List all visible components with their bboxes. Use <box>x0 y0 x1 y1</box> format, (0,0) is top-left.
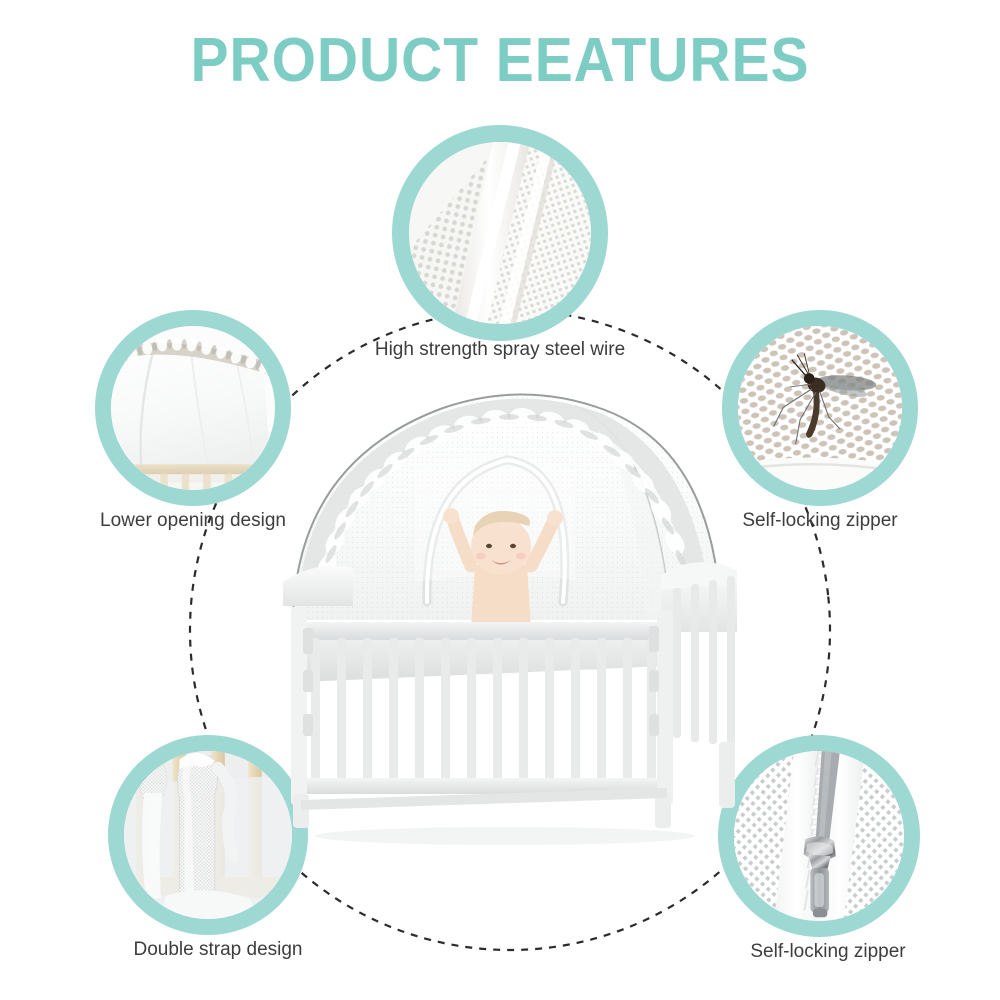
callout-image-zipper <box>734 751 904 921</box>
callout-label: Double strap design <box>58 939 378 961</box>
zipper-slider-illustration <box>734 751 904 921</box>
mesh-over-steel-wire-illustration <box>409 142 590 323</box>
callout-high-strength-spray-steel-wire[interactable]: High strength spray steel wire <box>392 125 608 341</box>
callout-image-mosquito-mesh <box>738 326 903 491</box>
callout-image-lower-opening <box>111 326 276 491</box>
callout-bubble <box>718 735 920 937</box>
callout-self-locking-zipper-top[interactable]: Self-locking zipper <box>722 310 918 506</box>
callout-bubble <box>722 310 918 506</box>
callout-bubble <box>95 310 291 506</box>
callout-self-locking-zipper-bottom[interactable]: Self-locking zipper <box>718 735 920 937</box>
callout-bubble <box>392 125 608 341</box>
callout-label: Self-locking zipper <box>668 941 988 963</box>
straps-on-crib-slats-illustration <box>124 751 292 919</box>
canopy-net-over-crib-rail-illustration <box>111 326 276 491</box>
callout-image-steel-wire <box>409 142 590 323</box>
product-features-infographic: PRODUCT EEATURES <box>0 0 1000 1000</box>
callout-label: High strength spray steel wire <box>340 339 660 361</box>
callout-image-double-strap <box>124 751 292 919</box>
page-title: PRODUCT EEATURES <box>40 30 960 92</box>
product-image-crib-with-canopy <box>275 370 745 850</box>
mosquito-on-mesh-illustration <box>738 326 903 491</box>
crib-canopy-illustration <box>275 370 745 850</box>
callout-lower-opening-design[interactable]: Lower opening design <box>95 310 291 506</box>
